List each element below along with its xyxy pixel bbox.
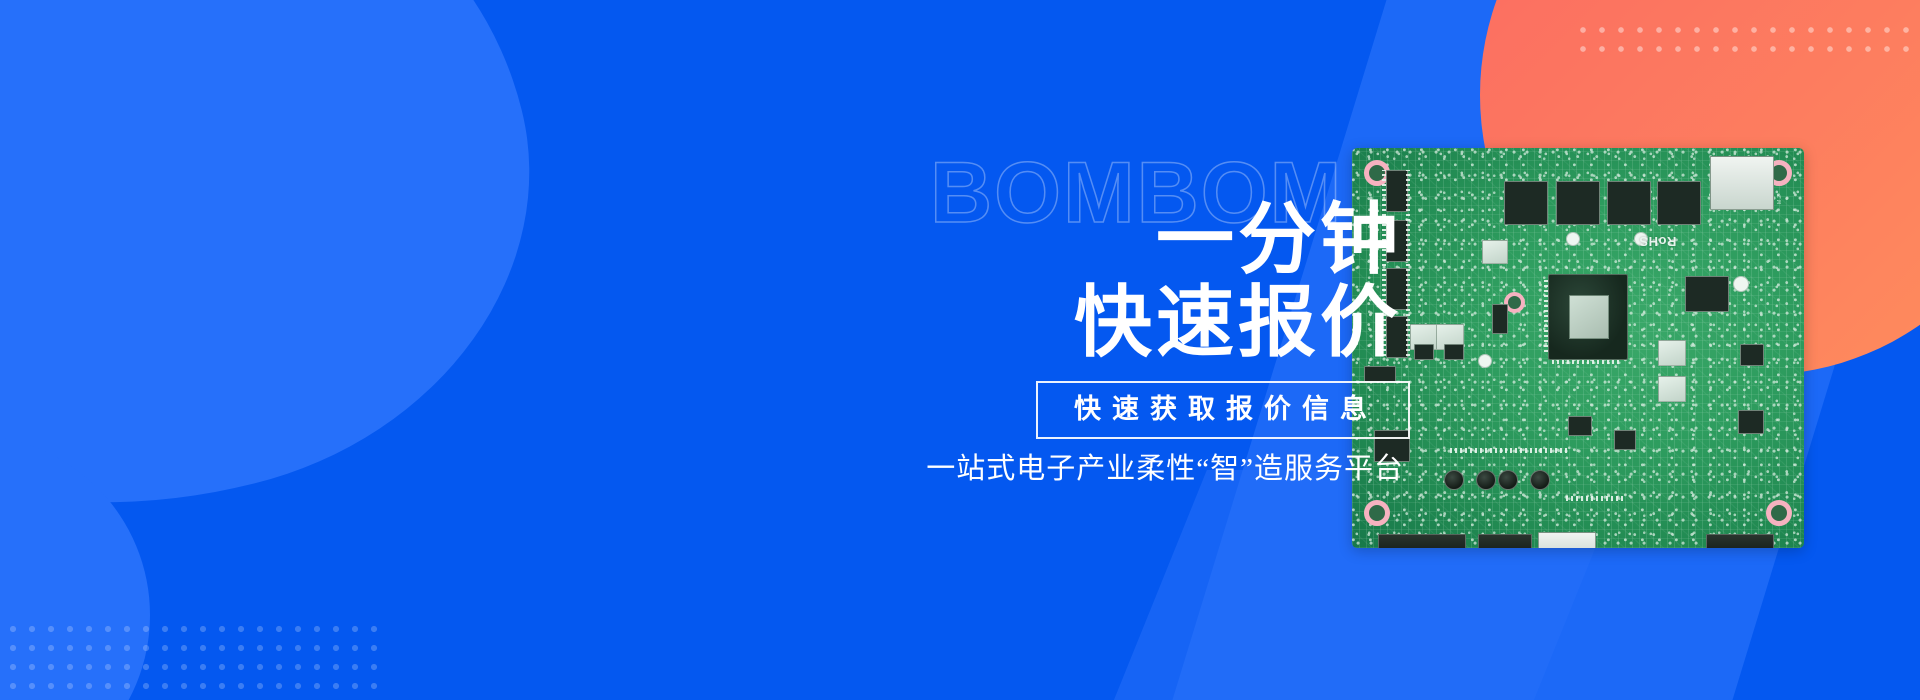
mounting-hole-bottom-left [1364,500,1390,526]
pcb-substrate: M.2 RoHS [1352,148,1804,548]
test-pad-4 [1733,276,1749,292]
pcb-circuit-board-image: M.2 RoHS [1352,148,1804,548]
controller-ic-2 [1738,410,1764,434]
cpu-bga-package [1548,274,1628,360]
headline-line-1: 一分钟 [850,198,1402,281]
rohs-silkscreen-mark: RoHS [1639,234,1676,249]
dot-grid-bottom-left [10,626,378,696]
memory-chip-4 [1657,181,1701,225]
promo-banner: M.2 RoHS BOMBOM 一分钟 快速报价 快速获取报价信息 一站式电子产… [0,0,1920,700]
memory-chip-3 [1607,181,1651,225]
electrolytic-cap-4 [1530,470,1550,490]
dot-grid-top-right [1580,27,1920,55]
via-grid-row [1450,448,1568,453]
mounting-hole-bottom-right [1766,500,1792,526]
power-inductor-1 [1482,240,1508,264]
power-inductor-5 [1658,376,1686,402]
cpu-pins-left [1544,280,1548,352]
headline-line-2: 快速报价 [850,281,1402,364]
cpu-pins-bottom [1552,360,1622,364]
page-title: 一分钟 快速报价 [850,198,1410,365]
m2-silk-label: M.2 [1777,195,1783,204]
io-connector-3 [1706,534,1774,548]
small-ic-3 [1444,344,1464,360]
electrolytic-cap-2 [1476,470,1496,490]
test-pad-3 [1478,354,1492,368]
flash-memory-chip [1685,276,1729,312]
m2-card-slot [1710,156,1774,210]
io-connector-2 [1478,534,1532,548]
controller-ic-1 [1740,344,1764,366]
io-connector-1 [1378,534,1466,548]
banner-copy-block: BOMBOM 一分钟 快速报价 快速获取报价信息 一站式电子产业柔性“智”造服务… [850,150,1410,489]
memory-chip-2 [1556,181,1600,225]
io-connector-usb [1538,532,1596,548]
memory-chip-1 [1504,181,1548,225]
get-quote-button[interactable]: 快速获取报价信息 [1036,381,1410,439]
power-inductor-4 [1658,340,1686,366]
small-ic-6 [1614,430,1636,450]
via-grid-row-2 [1566,496,1626,501]
small-ic-5 [1568,416,1592,436]
small-ic-2 [1414,344,1434,360]
electrolytic-cap-3 [1498,470,1518,490]
test-pad-1 [1566,232,1580,246]
small-ic-7 [1492,304,1508,334]
electrolytic-cap-1 [1444,470,1464,490]
banner-tagline: 一站式电子产业柔性“智”造服务平台 [850,451,1410,489]
cpu-die [1569,295,1608,339]
